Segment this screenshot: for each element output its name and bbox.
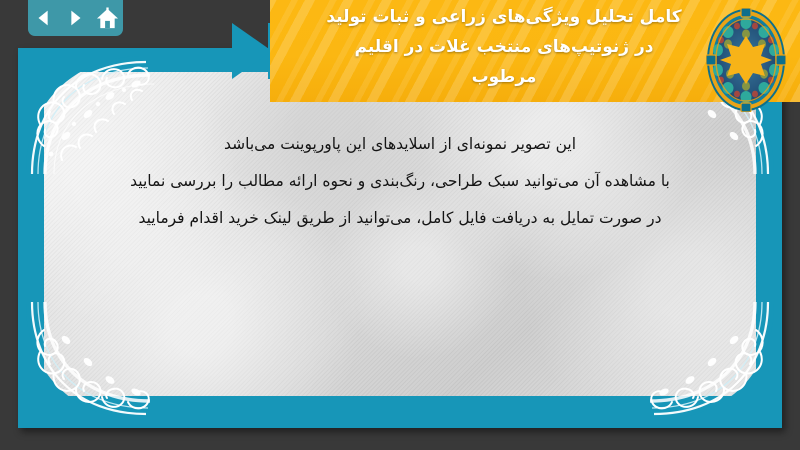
body-text-line-2: با مشاهده آن می‌توانید سبک طراحی، رنگ‌بن… bbox=[60, 163, 740, 200]
slide-title-line-3: مرطوب bbox=[304, 62, 704, 92]
slide-navigation-bar[interactable] bbox=[28, 0, 123, 36]
slide-title-line-1: کامل تحلیل ویژگی‌های زراعی و ثبات تولید bbox=[304, 2, 704, 32]
slide-title: کامل تحلیل ویژگی‌های زراعی و ثبات تولید … bbox=[304, 2, 704, 92]
home-icon[interactable] bbox=[95, 6, 119, 30]
persian-medallion-ornament bbox=[706, 8, 786, 112]
slide-card-frame bbox=[18, 48, 782, 428]
presentation-slide: کامل تحلیل ویژگی‌های زراعی و ثبات تولید … bbox=[0, 0, 800, 450]
previous-slide-icon[interactable] bbox=[32, 6, 56, 30]
slide-title-line-2: در ژنوتیپ‌های منتخب غلات در اقلیم bbox=[304, 32, 704, 62]
next-slide-icon[interactable] bbox=[63, 6, 87, 30]
body-text-line-3: در صورت تمایل به دریافت فایل کامل، می‌تو… bbox=[60, 200, 740, 237]
body-text-line-1: این تصویر نمونه‌ای از اسلایدهای این پاور… bbox=[60, 126, 740, 163]
slide-body-text: این تصویر نمونه‌ای از اسلایدهای این پاور… bbox=[60, 126, 740, 237]
ribbon-arrow-tail bbox=[232, 23, 272, 79]
